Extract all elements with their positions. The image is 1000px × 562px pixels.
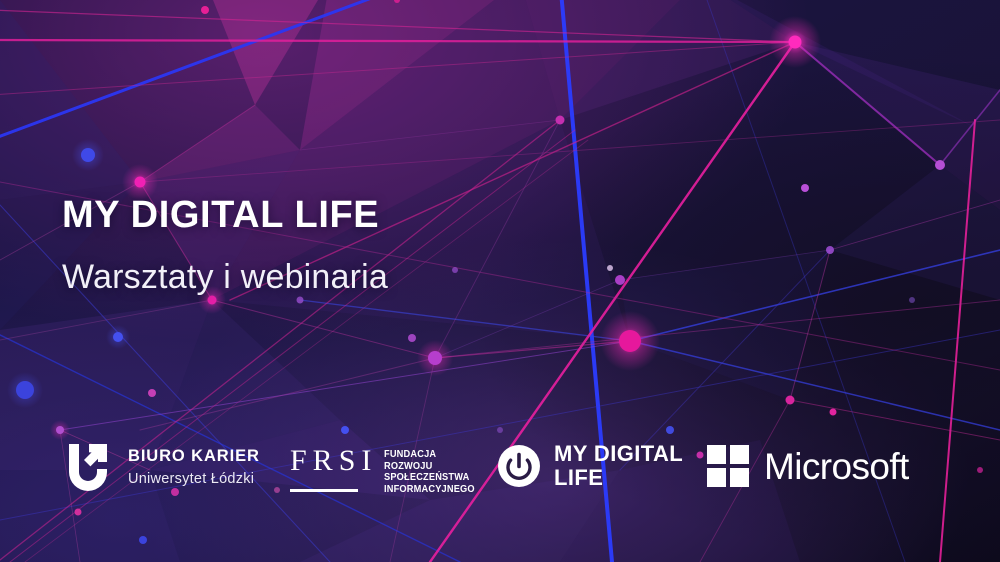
promo-banner: MY DIGITAL LIFE Warsztaty i webinaria BI… <box>0 0 1000 562</box>
page-title: MY DIGITAL LIFE <box>62 196 388 234</box>
frsi-descriptor-line-4: INFORMACYJNEGO <box>384 484 475 496</box>
frsi-rule <box>290 489 358 492</box>
headline-block: MY DIGITAL LIFE Warsztaty i webinaria <box>62 196 388 294</box>
biuro-karier-line2: Uniwersytet Łódzki <box>128 472 260 487</box>
partner-logo-bar: BIURO KARIER Uniwersytet Łódzki FRSI FUN… <box>0 436 1000 512</box>
microsoft-wordmark: Microsoft <box>764 448 909 485</box>
grid-square-4 <box>730 468 749 487</box>
logo-biuro-karier: BIURO KARIER Uniwersytet Łódzki <box>62 440 260 494</box>
logo-microsoft: Microsoft <box>707 445 909 487</box>
mdl-line1: MY DIGITAL <box>554 442 683 466</box>
mdl-line2: LIFE <box>554 466 683 490</box>
logo-frsi: FRSI FUNDACJA ROZWOJU SPOŁECZEŃSTWA INFO… <box>290 446 488 495</box>
page-subtitle: Warsztaty i webinaria <box>62 260 388 294</box>
arrow-in-u-mark-icon <box>62 440 114 494</box>
grid-square-2 <box>730 445 749 464</box>
biuro-karier-line1: BIURO KARIER <box>128 448 260 465</box>
grid-square-3 <box>707 468 726 487</box>
grid-square-1 <box>707 445 726 464</box>
logo-my-digital-life: MY DIGITAL LIFE <box>497 442 683 490</box>
power-button-icon <box>497 444 541 488</box>
four-square-grid-icon <box>707 445 749 487</box>
frsi-wordmark: FRSI <box>290 446 377 476</box>
